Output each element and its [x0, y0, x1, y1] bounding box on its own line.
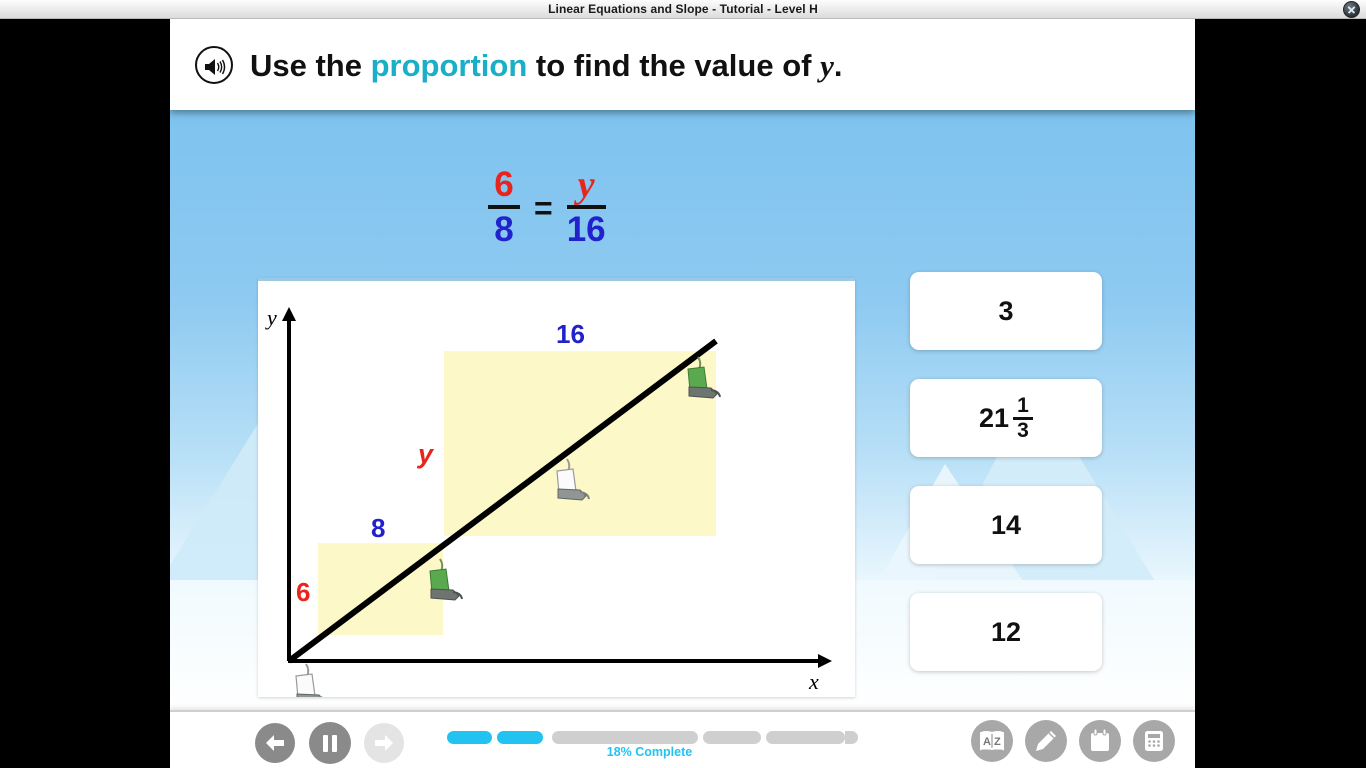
question-suffix: . [834, 48, 843, 83]
left-numerator: 6 [494, 167, 513, 203]
question-header: Use the proportion to find the value of … [170, 19, 1195, 110]
tutorial-app: Use the proportion to find the value of … [170, 19, 1195, 768]
progress-segment [447, 731, 492, 744]
graph-panel: 6 8 y 16 y x [258, 278, 855, 697]
y-axis-arrow [282, 307, 296, 321]
forward-arrow-icon[interactable] [364, 723, 404, 763]
question-text: Use the proportion to find the value of … [250, 41, 842, 91]
tool-buttons: A Z [971, 720, 1175, 762]
fraction-numerator: 1 [1017, 396, 1029, 416]
label-x-axis: x [808, 669, 819, 694]
choice-21-1-3[interactable]: 21 1 3 [910, 379, 1102, 457]
left-denominator: 8 [494, 211, 513, 249]
app-stage: Linear Equations and Slope - Tutorial - … [0, 0, 1366, 768]
choice-3[interactable]: 3 [910, 272, 1102, 350]
progress-segment [703, 731, 761, 744]
choice-value: 3 [998, 296, 1013, 327]
pause-icon[interactable] [309, 722, 351, 764]
pause-bar [323, 735, 328, 752]
window-titlebar: Linear Equations and Slope - Tutorial - … [0, 0, 1366, 19]
label-large-rise: y [416, 439, 435, 469]
right-denominator: 16 [567, 211, 606, 249]
speaker-icon[interactable] [195, 46, 233, 84]
label-small-rise: 6 [296, 577, 310, 607]
answer-choices: 3 21 1 3 14 12 [910, 272, 1102, 700]
speaker-glyph [204, 57, 228, 77]
question-variable: y [820, 48, 834, 83]
notepad-tool[interactable] [1079, 720, 1121, 762]
choice-whole: 21 [979, 403, 1009, 434]
chair-origin [296, 664, 328, 697]
bottom-toolbar: 18% Complete A Z [170, 710, 1195, 768]
right-fraction: y 16 [567, 167, 606, 249]
left-fraction: 6 8 [488, 167, 520, 249]
equals-sign: = [532, 190, 555, 227]
pencil-tool[interactable] [1025, 720, 1067, 762]
label-large-run: 16 [556, 319, 585, 349]
right-numerator: y [578, 167, 595, 203]
progress-label: 18% Complete [447, 745, 852, 759]
forward-arrow-glyph [373, 734, 395, 752]
question-middle: to find the value of [527, 48, 820, 83]
fraction-denominator: 3 [1017, 421, 1029, 441]
progress-end-cap [845, 731, 858, 744]
az-book-icon: A Z [979, 730, 1005, 752]
choice-fraction: 1 3 [1013, 396, 1033, 441]
back-arrow-icon[interactable] [255, 723, 295, 763]
choice-14[interactable]: 14 [910, 486, 1102, 564]
label-small-run: 8 [371, 513, 385, 543]
label-y-axis: y [265, 305, 277, 330]
window-title: Linear Equations and Slope - Tutorial - … [0, 0, 1366, 19]
question-highlight: proportion [371, 48, 528, 83]
choice-value: 14 [991, 510, 1021, 541]
notepad-icon [1088, 728, 1112, 754]
pause-bar [332, 735, 337, 752]
progress-bar[interactable] [447, 729, 852, 745]
progress-segment [766, 731, 845, 744]
calculator-tool[interactable] [1133, 720, 1175, 762]
question-prefix: Use the [250, 48, 371, 83]
progress-segment [497, 731, 543, 744]
back-arrow-glyph [264, 734, 286, 752]
fraction-bar [488, 205, 520, 209]
close-icon[interactable] [1343, 1, 1360, 18]
mixed-number: 21 1 3 [979, 396, 1033, 441]
choice-12[interactable]: 12 [910, 593, 1102, 671]
x-axis-arrow [818, 654, 832, 668]
glossary-tool[interactable]: A Z [971, 720, 1013, 762]
choice-value: 12 [991, 617, 1021, 648]
progress-segment [552, 731, 698, 744]
pencil-icon [1033, 728, 1059, 754]
svg-text:Z: Z [994, 736, 1001, 748]
lesson-scene: 6 8 = y 16 [170, 110, 1195, 710]
proportion-equation: 6 8 = y 16 [488, 167, 606, 249]
calculator-icon [1142, 728, 1166, 754]
fraction-bar [567, 205, 606, 209]
slope-graph: 6 8 y 16 y x [258, 281, 855, 697]
svg-text:A: A [983, 736, 991, 748]
